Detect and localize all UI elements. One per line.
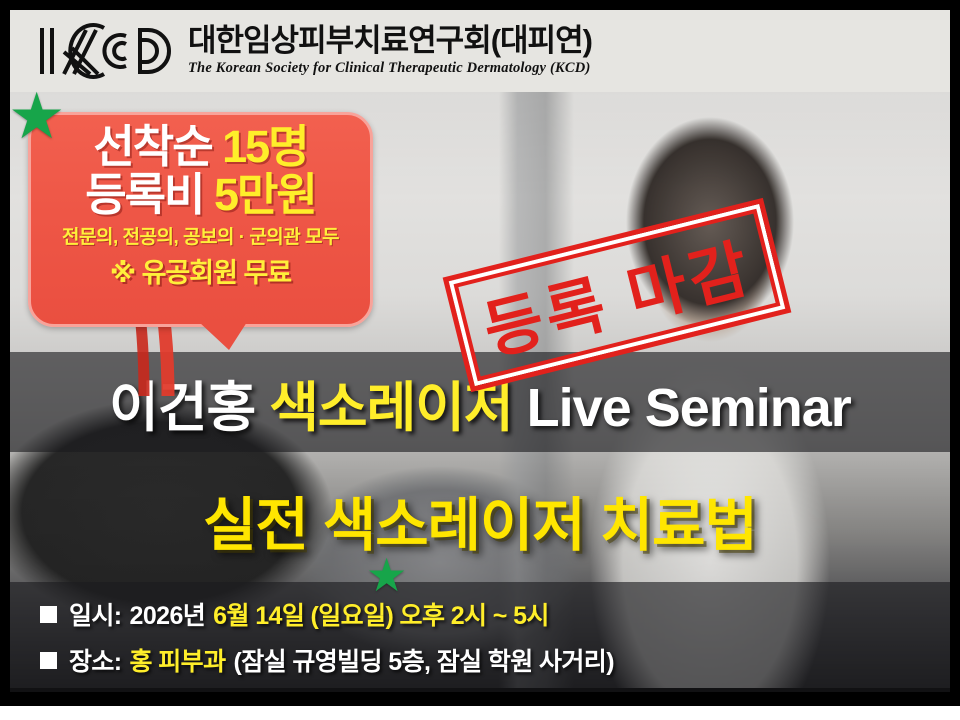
venue-detail: (잠실 규영빌딩 5층, 잠실 학원 사거리) bbox=[233, 642, 613, 678]
venue-label: 장소: bbox=[69, 642, 122, 678]
date-label: 일시: bbox=[69, 596, 122, 632]
venue-value: 홍 피부과 bbox=[130, 642, 226, 678]
info-row-venue: 장소: 홍 피부과 (잠실 규영빌딩 5층, 잠실 학원 사거리) bbox=[40, 642, 614, 678]
kcd-logo-icon bbox=[34, 22, 174, 80]
organization-english-name: The Korean Society for Clinical Therapeu… bbox=[188, 60, 592, 77]
seminar-subtitle: 실전 색소레이저 치료법 bbox=[203, 478, 757, 562]
square-bullet-icon bbox=[40, 652, 57, 669]
callout-line-capacity: 선착순 15명 bbox=[41, 123, 360, 171]
callout-capacity-value: 15명 bbox=[222, 121, 307, 172]
registration-callout: 선착순 15명 등록비 5만원 전문의, 전공의, 공보의 · 군의관 모두 ※… bbox=[28, 112, 373, 327]
date-prefix: 2026년 bbox=[130, 596, 206, 632]
info-row-date: 일시: 2026년 6월 14일 (일요일) 오후 2시 ~ 5시 bbox=[40, 596, 549, 632]
header-titles: 대한임상피부치료연구회(대피연) The Korean Society for … bbox=[188, 25, 592, 78]
info-band: 일시: 2026년 6월 14일 (일요일) 오후 2시 ~ 5시 장소: 홍 … bbox=[10, 582, 950, 692]
callout-eligibility: 전문의, 전공의, 공보의 · 군의관 모두 bbox=[41, 222, 360, 249]
callout-free-note: ※ 유공회원 무료 bbox=[41, 251, 360, 290]
seminar-poster: 대한임상피부치료연구회(대피연) The Korean Society for … bbox=[0, 0, 960, 720]
organization-korean-name: 대한임상피부치료연구회(대피연) bbox=[188, 25, 592, 58]
callout-capacity-label: 선착순 bbox=[93, 121, 211, 172]
date-value: 6월 14일 (일요일) 오후 2시 ~ 5시 bbox=[213, 596, 549, 632]
subtitle-area: 실전 색소레이저 치료법 bbox=[10, 470, 950, 570]
callout-line-fee: 등록비 5만원 bbox=[41, 171, 360, 219]
star-icon: ★ bbox=[366, 552, 407, 598]
title-speaker: 이건홍 bbox=[109, 378, 255, 438]
star-icon: ★ bbox=[8, 84, 65, 148]
poster-header: 대한임상피부치료연구회(대피연) The Korean Society for … bbox=[10, 10, 950, 92]
title-rest: Live Seminar bbox=[527, 378, 851, 438]
square-bullet-icon bbox=[40, 606, 57, 623]
callout-fee-value: 5만원 bbox=[214, 169, 316, 220]
callout-fee-label: 등록비 bbox=[85, 169, 203, 220]
